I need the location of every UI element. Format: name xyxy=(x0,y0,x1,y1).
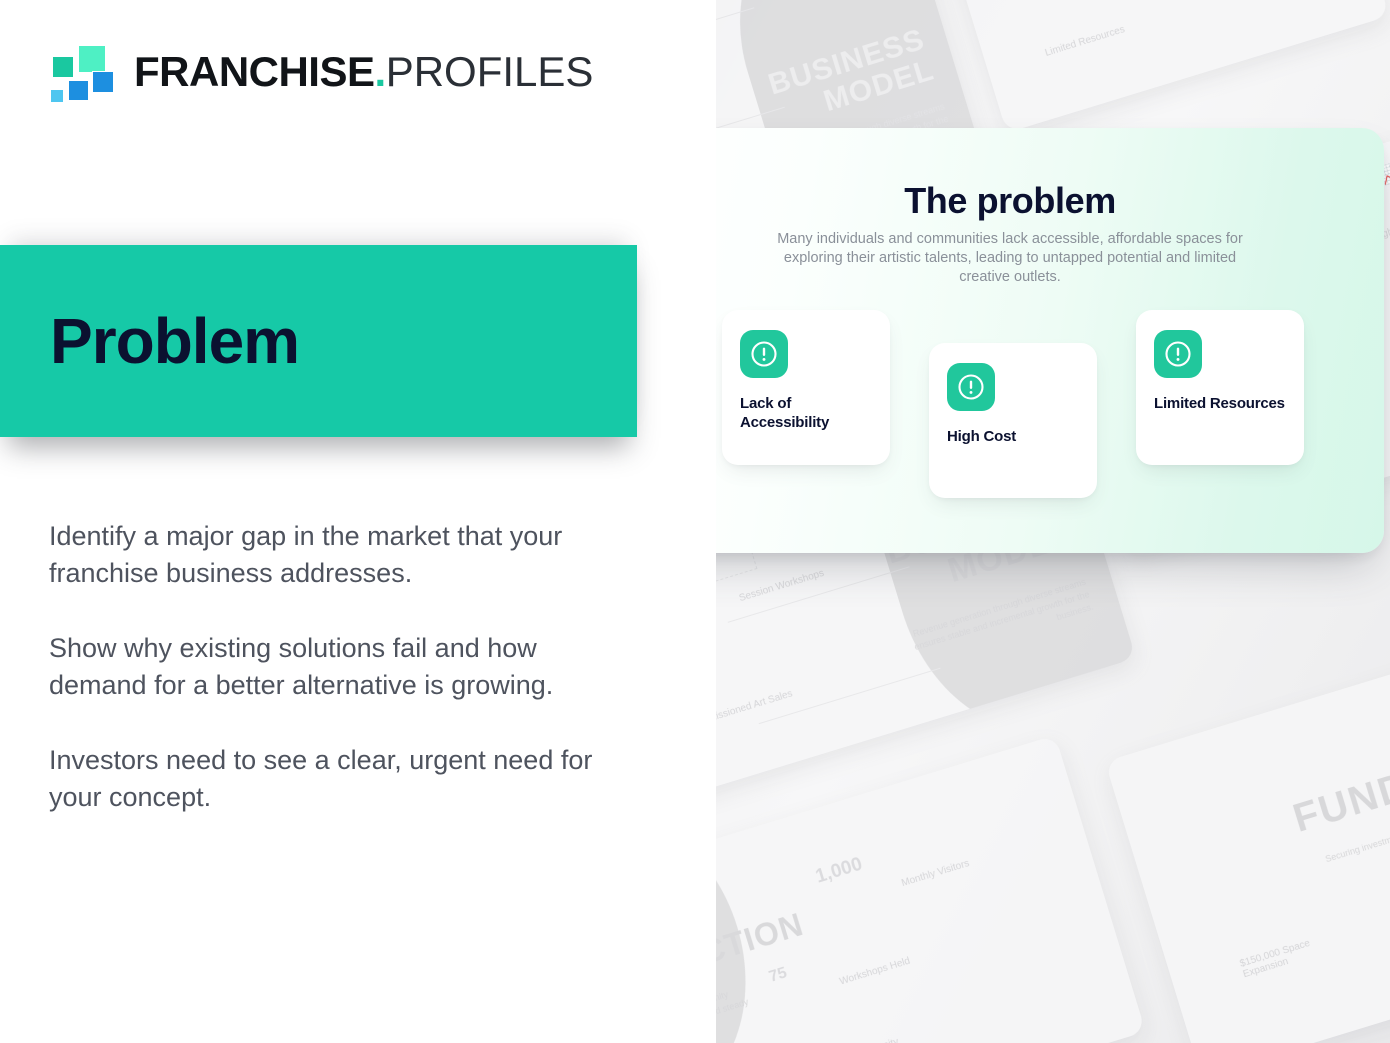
problem-tile-lack-of-accessibility[interactable]: Lack of Accessibility xyxy=(722,310,890,465)
brand-name-bold: FRANCHISE xyxy=(134,48,375,95)
alert-circle-icon xyxy=(740,330,788,378)
logo-square-blue xyxy=(92,71,114,93)
brand-name-thin: PROFILES xyxy=(386,48,594,95)
background-metric-value: 1,000 xyxy=(813,854,865,889)
page-title: Problem xyxy=(50,309,299,373)
section-title-banner: Problem xyxy=(0,245,637,437)
guidance-paragraph: Identify a major gap in the market that … xyxy=(49,518,614,592)
preview-card-tile-group: Lack of Accessibility High Cost xyxy=(722,310,1308,500)
alert-circle-icon xyxy=(1154,330,1202,378)
background-label: Monthly Visitors xyxy=(900,858,971,889)
brand-logo[interactable]: FRANCHISE.PROFILES xyxy=(48,44,593,100)
problem-tile-label: Lack of Accessibility xyxy=(740,394,872,432)
logo-square-teal-dark xyxy=(52,56,74,78)
guidance-paragraph: Investors need to see a clear, urgent ne… xyxy=(49,742,614,816)
alert-circle-icon xyxy=(947,363,995,411)
logo-square-teal-light xyxy=(78,45,106,73)
brand-wordmark: FRANCHISE.PROFILES xyxy=(134,51,593,93)
problem-tile-label: High Cost xyxy=(947,427,1079,446)
problem-preview-card[interactable]: The problem Many individuals and communi… xyxy=(636,128,1384,553)
left-content-panel: FRANCHISE.PROFILES Problem Identify a ma… xyxy=(0,0,716,1043)
section-title-banner-wrap: Problem xyxy=(0,245,637,437)
background-label: Limited Resources xyxy=(1044,24,1126,59)
problem-tile-limited-resources[interactable]: Limited Resources xyxy=(1136,310,1304,465)
brand-name-dot: . xyxy=(375,48,386,95)
guidance-paragraph: Show why existing solutions fail and how… xyxy=(49,630,614,704)
background-label: Commissioned Art Sales xyxy=(716,688,794,730)
preview-card-heading: The problem xyxy=(636,180,1384,222)
logo-square-blue-mid xyxy=(68,80,89,101)
background-label: Session Workshops xyxy=(738,568,826,604)
background-slide-problem: ▲ Lack of Accessibility High Cost Limite… xyxy=(925,0,1389,133)
slide-canvas: BUSINESS MODEL Revenue generation throug… xyxy=(0,0,1390,1043)
problem-tile-high-cost[interactable]: High Cost xyxy=(929,343,1097,498)
problem-tile-label: Limited Resources xyxy=(1154,394,1286,413)
squares-logo-icon xyxy=(48,44,112,100)
background-label: Community Partnerships xyxy=(848,1028,931,1043)
guidance-copy: Identify a major gap in the market that … xyxy=(49,518,614,816)
background-label: $150,000 Space Expansion xyxy=(1239,924,1360,980)
logo-square-blue-light xyxy=(50,89,64,103)
background-slide-fundraising: FUNDRAISING Securing investment to scale… xyxy=(1105,621,1390,1043)
background-slide-traction: TRACTION Growing community engagement an… xyxy=(716,735,1146,1043)
background-metric-value: 75 xyxy=(767,964,789,986)
preview-card-subtitle: Many individuals and communities lack ac… xyxy=(760,230,1260,287)
background-label: Workshops Held xyxy=(838,956,911,988)
background-slide-title: FUNDRAISING xyxy=(1269,712,1390,846)
